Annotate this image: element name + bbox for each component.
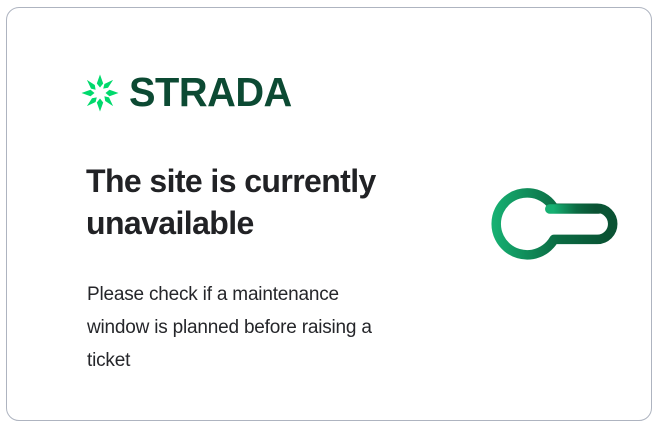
brand-lockup: STRADA [80, 72, 297, 113]
brand-wordmark: STRADA [129, 72, 292, 113]
status-card: STRADA The site is currently unavailable… [6, 7, 652, 421]
page-description: Please check if a maintenance window is … [87, 278, 397, 377]
wrench-icon [462, 158, 622, 318]
asterisk-star-logo-icon [80, 73, 120, 113]
error-page: STRADA The site is currently unavailable… [0, 0, 666, 436]
page-title: The site is currently unavailable [86, 160, 426, 244]
